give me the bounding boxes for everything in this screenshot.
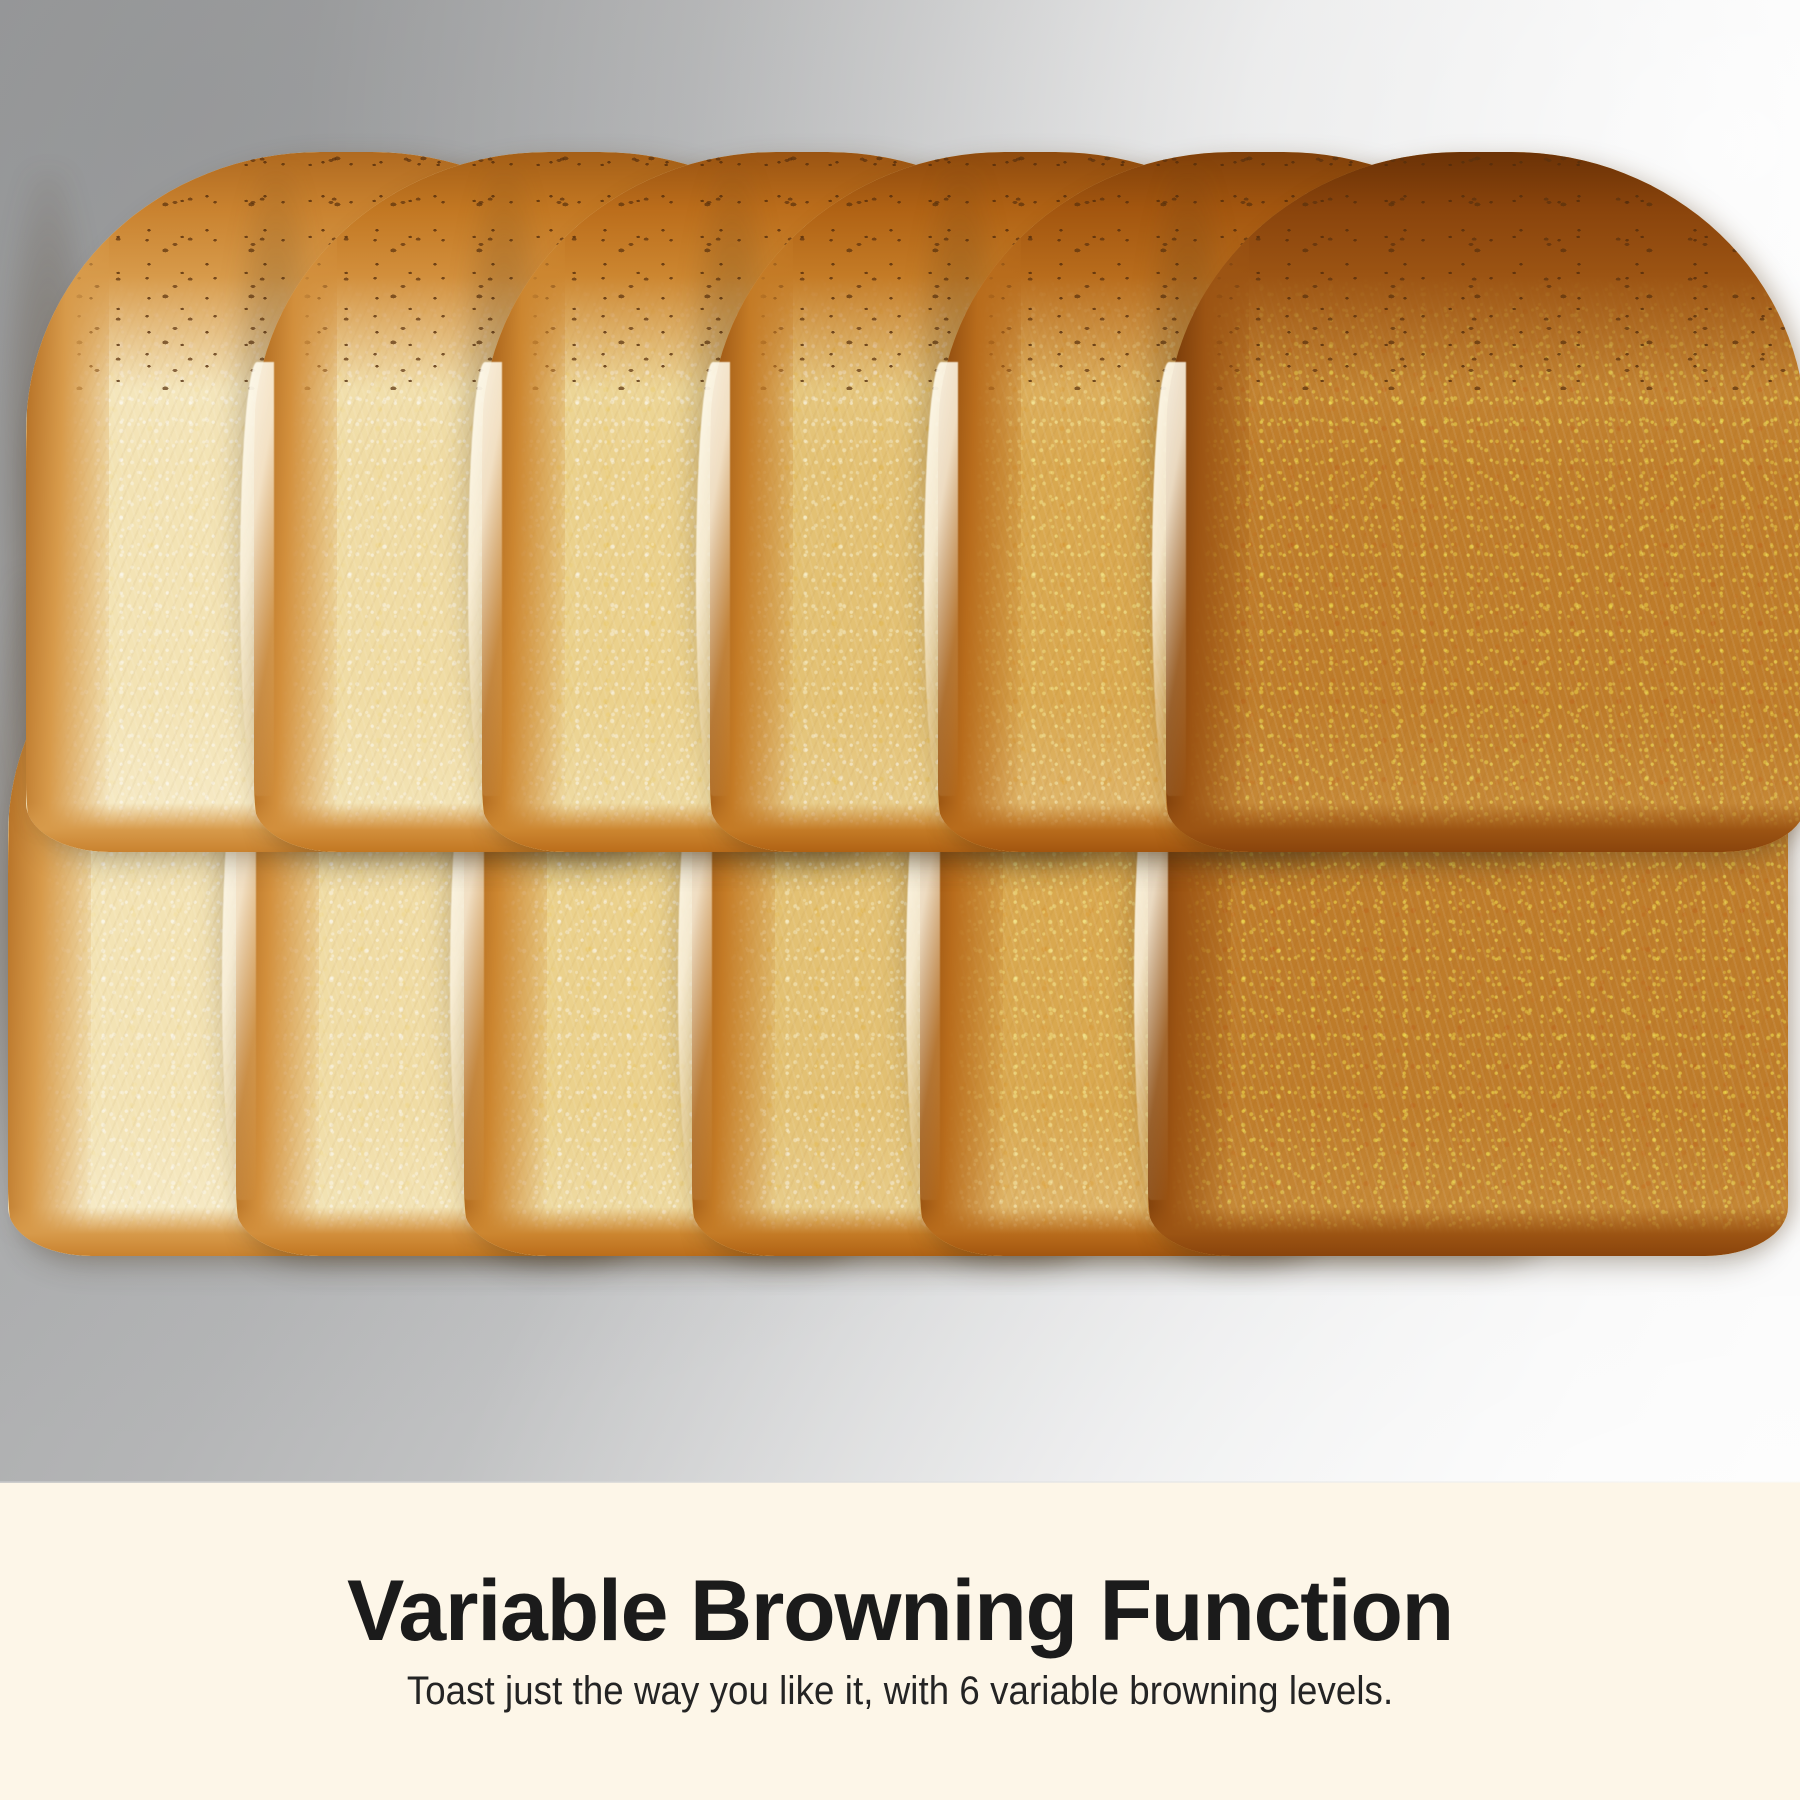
toast-slice-6	[1166, 152, 1800, 852]
toast-slices-group	[0, 0, 1800, 1500]
toast-crust-pores	[1166, 152, 1800, 390]
toast-left-crust	[254, 152, 337, 852]
product-feature-image: Variable Browning Function Toast just th…	[0, 0, 1800, 1800]
caption-subtitle: Toast just the way you like it, with 6 v…	[407, 1668, 1393, 1714]
caption-panel: Variable Browning Function Toast just th…	[0, 1482, 1800, 1800]
toast-left-crust	[482, 152, 565, 852]
toast-left-crust	[26, 152, 109, 852]
toast-left-crust	[938, 152, 1021, 852]
toast-left-crust	[1166, 152, 1249, 852]
page-title: Variable Browning Function	[347, 1568, 1453, 1654]
toast-bottom-crust	[1166, 803, 1800, 852]
toast-left-crust	[710, 152, 793, 852]
toast-top-crust	[1166, 152, 1800, 390]
toast-bottom-crust	[1148, 1207, 1788, 1256]
